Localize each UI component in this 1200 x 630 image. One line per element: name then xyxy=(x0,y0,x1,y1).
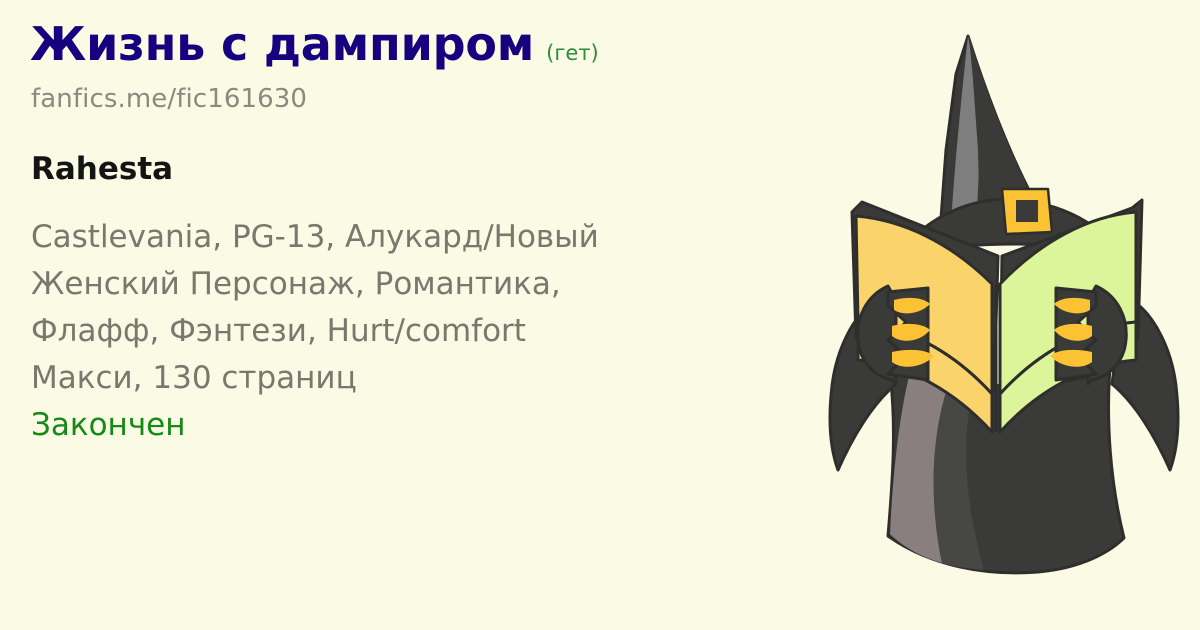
fic-url[interactable]: fanfics.me/fic161630 xyxy=(31,85,307,115)
hat-buckle-icon xyxy=(1002,189,1052,234)
page-title: Жизнь с дампиром xyxy=(30,21,534,67)
author-name[interactable]: Rahesta xyxy=(31,152,173,188)
title-row: Жизнь с дампиром (гет) xyxy=(30,21,599,67)
meta-line-genres-2: Флафф, Фэнтези, Hurt/comfort xyxy=(31,308,811,355)
category-badge: (гет) xyxy=(546,43,599,64)
meta-line-fandom-rating-pairing: Castlevania, PG-13, Алукард/Новый xyxy=(31,214,811,261)
status-badge: Закончен xyxy=(31,402,811,449)
meta-line-size-pages: Макси, 130 страниц xyxy=(31,355,811,402)
text-column: Жизнь с дампиром (гет) fanfics.me/fic161… xyxy=(30,0,820,630)
metadata-block: Castlevania, PG-13, Алукард/Новый Женски… xyxy=(31,214,811,449)
witch-reading-book-icon xyxy=(780,0,1200,630)
meta-line-genres-1: Женский Персонаж, Романтика, xyxy=(31,261,811,308)
fanfic-preview-card: Жизнь с дампиром (гет) fanfics.me/fic161… xyxy=(0,0,1200,630)
witch-reading-book-svg xyxy=(780,0,1200,630)
